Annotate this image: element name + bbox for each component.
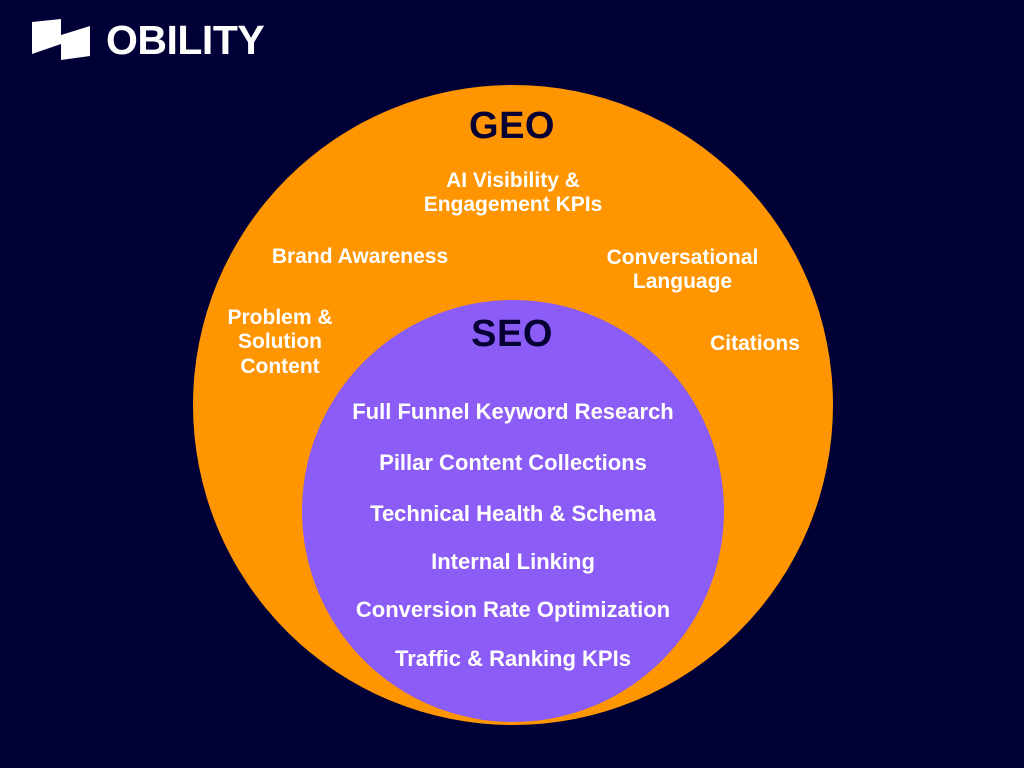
seo-item-full-funnel-keyword-research: Full Funnel Keyword Research [313, 399, 713, 425]
seo-item-technical-health-schema: Technical Health & Schema [313, 501, 713, 527]
seo-item-traffic-ranking-kpis: Traffic & Ranking KPIs [313, 646, 713, 672]
seo-item-internal-linking: Internal Linking [313, 549, 713, 575]
geo-item-problem-solution-content: Problem & Solution Content [190, 306, 370, 379]
seo-item-pillar-content-collections: Pillar Content Collections [313, 450, 713, 476]
geo-heading: GEO [412, 104, 612, 148]
seo-item-conversion-rate-optimization: Conversion Rate Optimization [313, 597, 713, 623]
geo-item-ai-visibility-engagement-kpis: AI Visibility & Engagement KPIs [373, 169, 653, 218]
geo-item-brand-awareness: Brand Awareness [240, 245, 480, 269]
geo-item-citations: Citations [660, 332, 850, 356]
geo-item-conversational-language: Conversational Language [570, 246, 795, 295]
diagram-labels: GEO AI Visibility & Engagement KPIs Bran… [0, 0, 1024, 768]
seo-heading: SEO [412, 312, 612, 356]
